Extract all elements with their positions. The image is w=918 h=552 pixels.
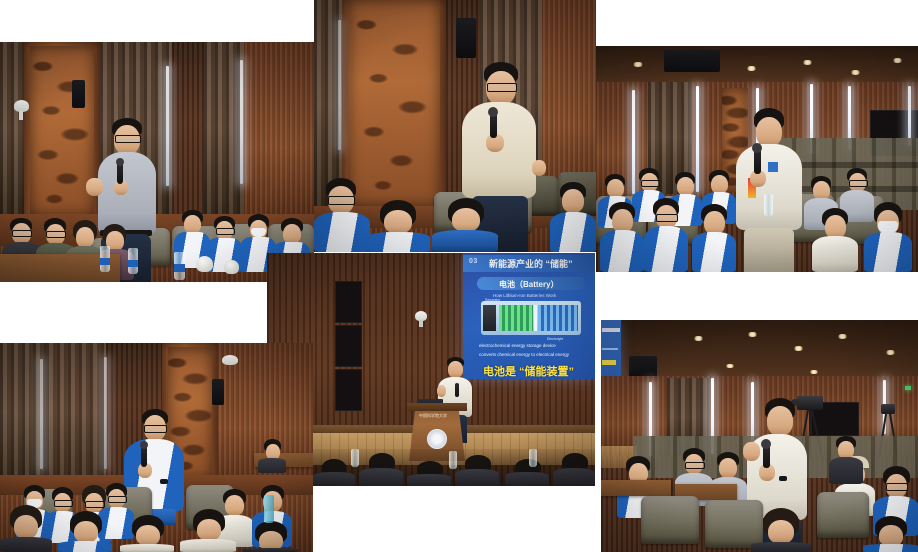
- photo-top-right[interactable]: [596, 46, 918, 272]
- audience-member: [258, 439, 286, 473]
- student-in-uniform: [812, 208, 858, 272]
- student-in-uniform: [600, 202, 644, 272]
- photo-top-center[interactable]: [314, 0, 596, 252]
- audience-silhouette: [505, 459, 549, 486]
- audience-silhouette: [359, 453, 403, 486]
- glasses-icon: [115, 135, 141, 143]
- ptz-camera-icon: [222, 355, 238, 365]
- slide-subheading: How Lithium-Ion Batteries Work: [493, 293, 556, 298]
- carved-wood-panel: [30, 46, 94, 216]
- ceiling-speaker: [456, 18, 476, 58]
- slide-number: 03: [469, 258, 478, 265]
- glasses-icon: [886, 483, 908, 491]
- audience-member: [0, 505, 52, 552]
- projection-screen: 03 新能源产业的 “储能” 电池（Battery） How Lithium-I…: [463, 253, 595, 379]
- battery-diagram: [481, 301, 581, 335]
- slide-title: 新能源产业的 “储能”: [489, 257, 573, 270]
- photo-bottom-left[interactable]: [0, 343, 313, 552]
- audience-member: [242, 521, 298, 552]
- slide-bullet: converts chemical energy to electrical e…: [479, 352, 569, 357]
- water-bottle: [449, 451, 457, 469]
- glasses-icon: [144, 425, 167, 433]
- microphone-icon: [455, 383, 459, 397]
- student-with-mask: [864, 202, 912, 272]
- audience-member: [366, 200, 430, 252]
- audience-member: [314, 178, 370, 252]
- video-camera: [881, 404, 895, 414]
- audience-silhouette: [455, 455, 499, 486]
- audience-silhouette: [751, 508, 811, 552]
- photo-bottom-right[interactable]: [601, 320, 918, 552]
- audience-silhouette: [553, 453, 595, 486]
- wall-recess-panel: [335, 325, 362, 367]
- audience-silhouette: [407, 461, 451, 486]
- podium-nameplate: 中国科学院大学: [419, 413, 447, 419]
- water-bottle: [264, 495, 274, 523]
- water-bottle: [351, 449, 359, 467]
- slide-heading: 电池（Battery）: [499, 279, 559, 290]
- projection-screen-corner: [601, 320, 621, 380]
- audience-member: [432, 198, 498, 252]
- audience-member: [58, 511, 112, 552]
- university-crest-icon: [427, 429, 447, 449]
- photo-top-left[interactable]: [0, 42, 314, 282]
- speaker-student-white-tshirt: [732, 108, 808, 272]
- audience-desk: [601, 480, 671, 496]
- student-in-uniform: [863, 516, 918, 552]
- student-in-uniform: [644, 198, 688, 272]
- audience-member: [120, 515, 174, 552]
- water-bottle: [764, 194, 773, 216]
- ceiling-speaker: [212, 379, 224, 405]
- ceiling-speaker: [72, 80, 85, 108]
- carved-wood-panel: [348, 0, 440, 206]
- ceiling-speaker: [664, 50, 720, 72]
- photo-center-bottom[interactable]: 03 新能源产业的 “储能” 电池（Battery） How Lithium-I…: [267, 253, 595, 486]
- audience-silhouette: [313, 459, 355, 486]
- photo-collage: 03 新能源产业的 “储能” 电池（Battery） How Lithium-I…: [0, 0, 918, 552]
- glasses-icon: [487, 83, 517, 92]
- audience-member: [180, 509, 236, 552]
- student-in-uniform: [829, 436, 863, 484]
- slide-bullet: electrochemical energy storage device: [479, 343, 556, 348]
- slide-highlight: 电池是 “储能装置”: [483, 363, 574, 379]
- water-bottle: [529, 449, 537, 467]
- student-in-uniform: [692, 204, 736, 272]
- wall-recess-panel: [335, 281, 362, 323]
- wall-recess-panel: [335, 369, 362, 411]
- student-in-uniform: [550, 182, 596, 252]
